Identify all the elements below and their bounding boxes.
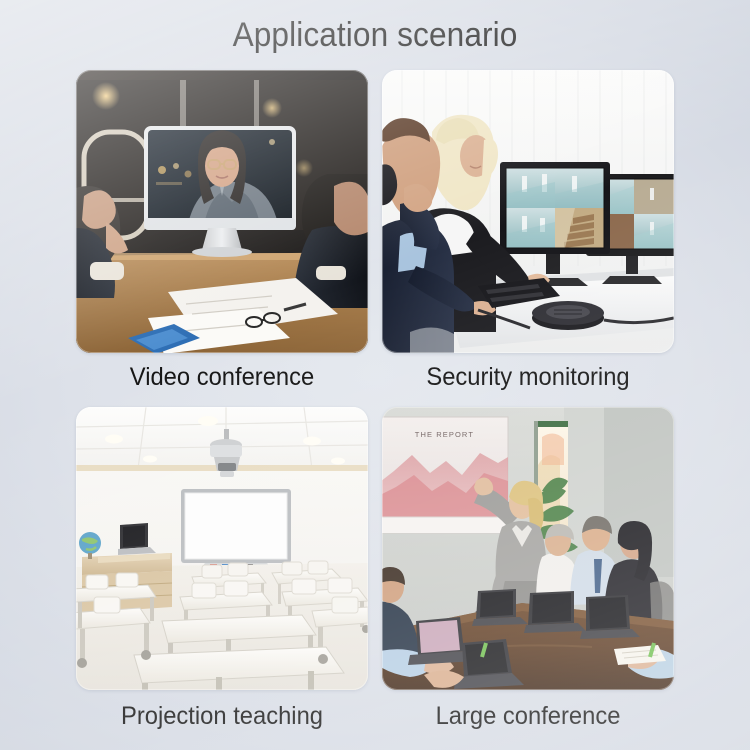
scenario-caption: Projection teaching	[83, 690, 360, 740]
video-conference-photo	[76, 70, 368, 353]
scenario-caption: Large conference	[389, 690, 666, 740]
scenario-caption: Video conference	[83, 353, 360, 401]
scenario-card-projection-teaching[interactable]: Projection teaching	[76, 407, 368, 740]
slide-heading-text: THE REPORT	[415, 430, 474, 439]
projection-teaching-photo	[76, 407, 368, 690]
security-monitoring-photo	[382, 70, 674, 353]
scenario-card-video-conference[interactable]: Video conference	[76, 70, 368, 401]
page-background: Application scenario	[0, 0, 750, 750]
scenario-card-security-monitoring[interactable]: Security monitoring	[382, 70, 674, 401]
scenario-card-large-conference[interactable]: THE REPORT	[382, 407, 674, 740]
scenario-grid: Video conference	[76, 70, 674, 740]
large-conference-photo: THE REPORT	[382, 407, 674, 690]
scenario-caption: Security monitoring	[389, 353, 666, 401]
page-title: Application scenario	[26, 14, 724, 56]
